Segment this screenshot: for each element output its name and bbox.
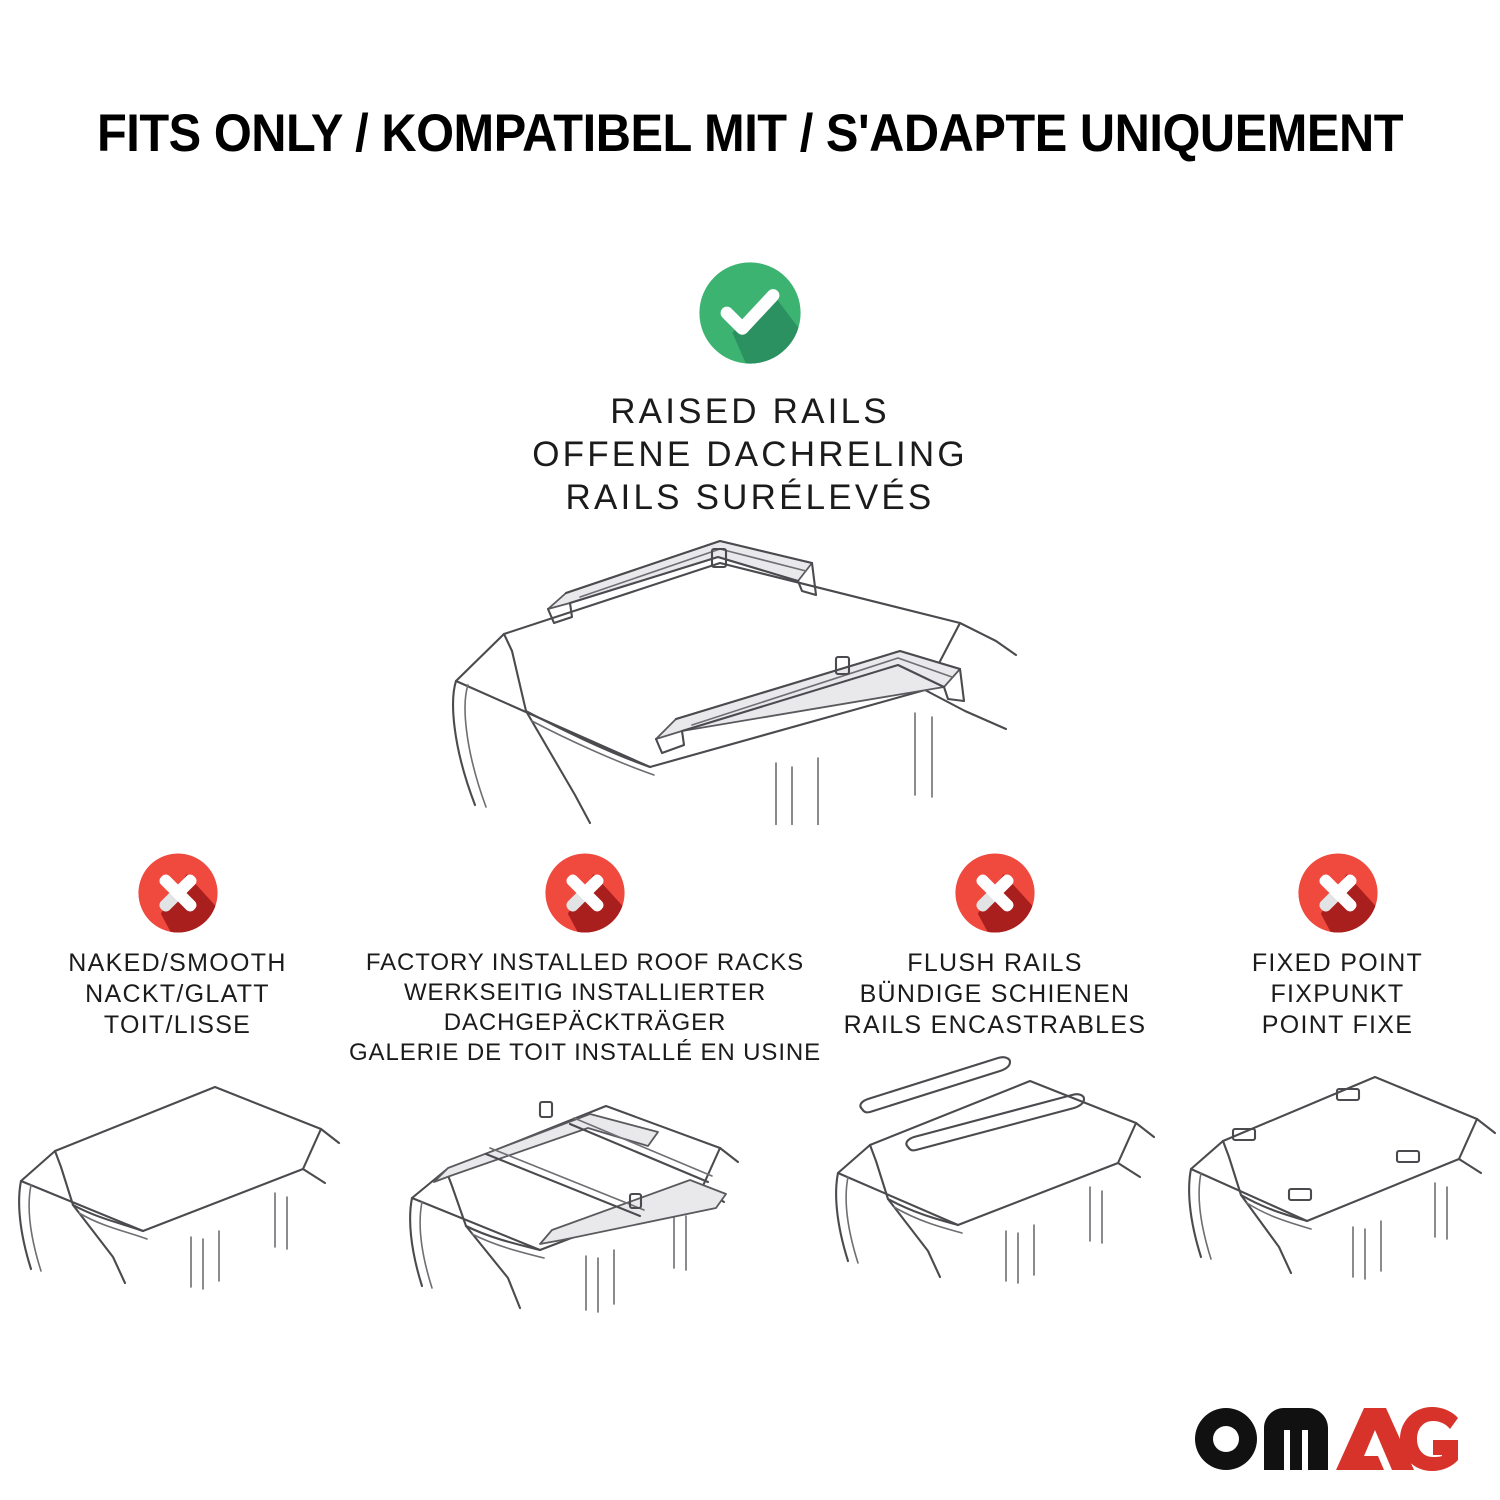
- label-en: FIXED POINT: [1252, 948, 1423, 979]
- incompatible-labels: FLUSH RAILS BÜNDIGE SCHIENEN RAILS ENCAS…: [844, 948, 1147, 1041]
- red-x-circle-icon: [542, 850, 628, 936]
- omac-logo: [1190, 1394, 1460, 1478]
- flush-rails-svg: [820, 1051, 1170, 1301]
- car-roof-flush-rails-illustration: [820, 1051, 1170, 1301]
- label-en: NAKED/SMOOTH: [68, 948, 286, 979]
- incompatible-item-fixed-point: FIXED POINT FIXPUNKT POINT FIXE: [1175, 850, 1500, 1301]
- label-en: FACTORY INSTALLED ROOF RACKS: [349, 948, 821, 978]
- fixed-point-svg: [1173, 1051, 1500, 1301]
- factory-roof-racks-svg: [390, 1078, 780, 1328]
- incompatible-item-flush-rails: FLUSH RAILS BÜNDIGE SCHIENEN RAILS ENCAS…: [815, 850, 1175, 1301]
- green-check-circle-icon: [695, 258, 805, 368]
- label-fr: POINT FIXE: [1252, 1010, 1423, 1041]
- label-de-2: DACHGEPÄCKTRÄGER: [349, 1008, 821, 1038]
- compatible-section: RAISED RAILS OFFENE DACHRELING RAILS SUR…: [0, 258, 1500, 519]
- label-fr: RAILS ENCASTRABLES: [844, 1010, 1147, 1041]
- label-fr: GALERIE DE TOIT INSTALLÉ EN USINE: [349, 1038, 821, 1068]
- label-en: FLUSH RAILS: [844, 948, 1147, 979]
- omac-logo-m: [1264, 1408, 1328, 1470]
- red-x-circle-icon: [1295, 850, 1381, 936]
- red-x-circle-icon: [135, 850, 221, 936]
- incompatible-item-naked-smooth: NAKED/SMOOTH NACKT/GLATT TOIT/LISSE: [0, 850, 355, 1301]
- red-x-circle-icon: [952, 850, 1038, 936]
- car-roof-factory-roof-racks-illustration: [390, 1078, 780, 1328]
- page-title: FITS ONLY / KOMPATIBEL MIT / S'ADAPTE UN…: [60, 104, 1440, 164]
- naked-smooth-svg: [3, 1051, 353, 1301]
- car-roof-fixed-point-illustration: [1173, 1051, 1500, 1301]
- label-fr: TOIT/LISSE: [68, 1010, 286, 1041]
- compatible-label-de: OFFENE DACHRELING: [0, 433, 1500, 476]
- car-roof-naked-smooth-illustration: [3, 1051, 353, 1301]
- incompatible-labels: FACTORY INSTALLED ROOF RACKS WERKSEITIG …: [349, 948, 821, 1068]
- label-de: NACKT/GLATT: [68, 979, 286, 1010]
- compatible-labels: RAISED RAILS OFFENE DACHRELING RAILS SUR…: [0, 390, 1500, 519]
- incompatible-item-factory-roof-racks: FACTORY INSTALLED ROOF RACKS WERKSEITIG …: [355, 850, 815, 1328]
- incompatible-section: NAKED/SMOOTH NACKT/GLATT TOIT/LISSE: [0, 850, 1500, 1328]
- label-de: WERKSEITIG INSTALLIERTER: [349, 978, 821, 1008]
- omac-logo-o-inner: [1213, 1426, 1239, 1452]
- incompatible-labels: FIXED POINT FIXPUNKT POINT FIXE: [1252, 948, 1423, 1041]
- raised-rails-svg: [420, 505, 1080, 825]
- label-de: FIXPUNKT: [1252, 979, 1423, 1010]
- compatible-label-en: RAISED RAILS: [0, 390, 1500, 433]
- incompatible-labels: NAKED/SMOOTH NACKT/GLATT TOIT/LISSE: [68, 948, 286, 1041]
- label-de: BÜNDIGE SCHIENEN: [844, 979, 1147, 1010]
- car-roof-raised-rails-illustration: [0, 505, 1500, 825]
